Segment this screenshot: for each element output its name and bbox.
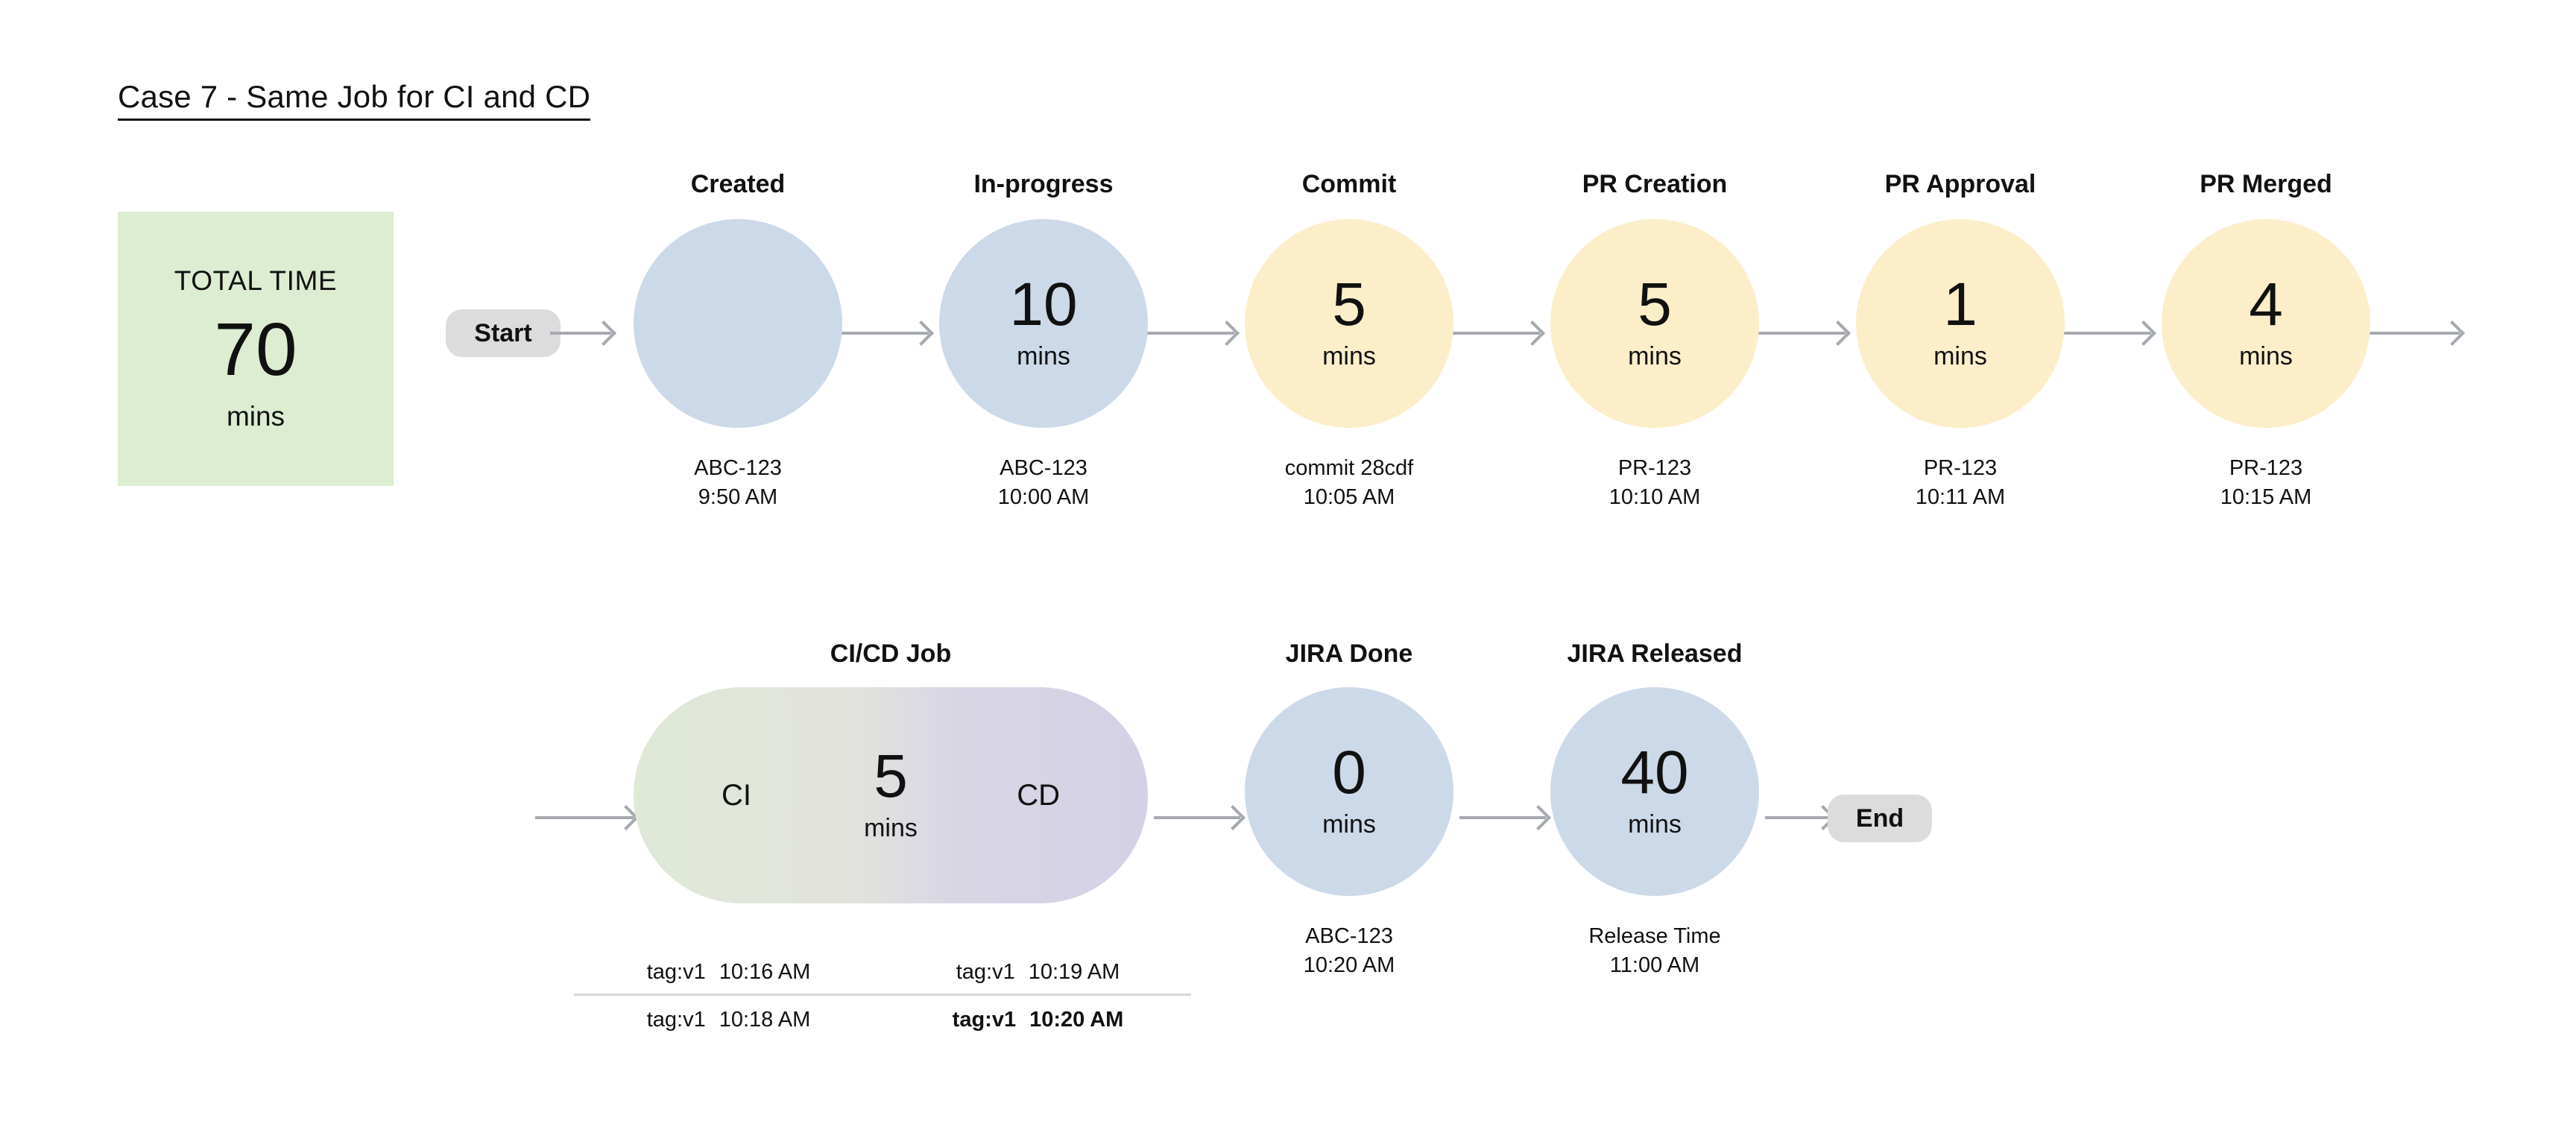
tag-cell-ci-end: tag:v1 10:18 AM bbox=[574, 1008, 883, 1032]
node-cicd-job-label: CI/CD Job bbox=[830, 641, 951, 666]
node-in-progress-caption: ABC-123 10:00 AM bbox=[998, 453, 1090, 511]
connector-created-to-inprogress bbox=[841, 332, 929, 335]
connector-jira-done-to-jira-released bbox=[1459, 816, 1546, 819]
node-jira-released-caption-id: Release Time bbox=[1588, 923, 1720, 950]
tag-cell-ci-start-tag: tag:v1 bbox=[647, 960, 706, 985]
node-created-caption-time: 9:50 AM bbox=[694, 484, 782, 511]
connector-inprogress-to-commit bbox=[1146, 332, 1234, 335]
connector-start-to-created bbox=[550, 332, 611, 335]
node-in-progress[interactable]: In-progress 10 mins ABC-123 10:00 AM bbox=[939, 171, 1148, 511]
node-jira-done-value: 0 bbox=[1332, 744, 1366, 802]
node-jira-released[interactable]: JIRA Released 40 mins Release Time 11:00… bbox=[1550, 641, 1759, 979]
node-in-progress-caption-time: 10:00 AM bbox=[998, 484, 1090, 511]
node-commit-value: 5 bbox=[1332, 276, 1366, 334]
tag-cell-cd-end-tag: tag:v1 bbox=[953, 1008, 1016, 1032]
node-jira-released-caption-time: 11:00 AM bbox=[1588, 952, 1720, 979]
node-pr-creation-label: PR Creation bbox=[1582, 171, 1728, 197]
node-cicd-job-cd-label: CD bbox=[1017, 779, 1060, 812]
node-jira-released-caption: Release Time 11:00 AM bbox=[1588, 921, 1720, 979]
page-title: Case 7 - Same Job for CI and CD bbox=[118, 80, 590, 121]
node-jira-released-unit: mins bbox=[1628, 810, 1682, 839]
tag-cell-cd-start-time: 10:19 AM bbox=[1029, 960, 1120, 985]
tag-cell-ci-start-time: 10:16 AM bbox=[719, 960, 811, 985]
node-pr-merged[interactable]: PR Merged 4 mins PR-123 10:15 AM bbox=[2162, 171, 2370, 511]
node-pr-approval-caption-time: 10:11 AM bbox=[1916, 484, 2005, 511]
node-pr-merged-unit: mins bbox=[2239, 342, 2293, 371]
node-pr-approval-caption: PR-123 10:11 AM bbox=[1916, 453, 2005, 511]
node-pr-approval-unit: mins bbox=[1933, 342, 1987, 371]
node-pr-creation[interactable]: PR Creation 5 mins PR-123 10:10 AM bbox=[1550, 171, 1759, 511]
node-created-caption: ABC-123 9:50 AM bbox=[694, 453, 782, 511]
node-commit-caption: commit 28cdf 10:05 AM bbox=[1285, 453, 1413, 511]
node-pr-creation-caption: PR-123 10:10 AM bbox=[1609, 453, 1701, 511]
node-jira-done-bubble: 0 mins bbox=[1245, 687, 1453, 896]
node-created-caption-id: ABC-123 bbox=[694, 455, 782, 482]
flow-row-2: CI/CD Job CI 5 mins CD JIRA Done 0 mins … bbox=[0, 641, 2576, 1058]
node-pr-approval-bubble: 1 mins bbox=[1856, 219, 2065, 428]
node-pr-approval-value: 1 bbox=[1943, 276, 1977, 334]
node-commit-caption-id: commit 28cdf bbox=[1285, 455, 1413, 482]
node-pr-merged-bubble: 4 mins bbox=[2162, 219, 2370, 428]
node-in-progress-label: In-progress bbox=[973, 171, 1113, 197]
node-commit-label: Commit bbox=[1302, 171, 1397, 197]
end-badge[interactable]: End bbox=[1828, 795, 1932, 842]
node-in-progress-bubble: 10 mins bbox=[939, 219, 1148, 428]
node-cicd-job-ci-label: CI bbox=[722, 779, 751, 812]
node-cicd-job-center: 5 mins bbox=[864, 748, 918, 844]
node-commit-bubble: 5 mins bbox=[1245, 219, 1453, 428]
node-commit[interactable]: Commit 5 mins commit 28cdf 10:05 AM bbox=[1245, 171, 1453, 511]
node-jira-done-label: JIRA Done bbox=[1286, 641, 1413, 666]
node-jira-done-caption-time: 10:20 AM bbox=[1304, 952, 1395, 979]
node-cicd-job[interactable]: CI/CD Job CI 5 mins CD bbox=[634, 641, 1148, 903]
node-pr-approval-caption-id: PR-123 bbox=[1916, 455, 2005, 482]
node-pr-merged-caption-id: PR-123 bbox=[2220, 455, 2312, 482]
node-pr-creation-caption-time: 10:10 AM bbox=[1609, 484, 1701, 511]
node-pr-merged-caption-time: 10:15 AM bbox=[2220, 484, 2312, 511]
node-jira-released-bubble: 40 mins bbox=[1550, 687, 1759, 896]
tag-cell-cd-start-tag: tag:v1 bbox=[956, 960, 1015, 985]
node-in-progress-caption-id: ABC-123 bbox=[998, 455, 1090, 482]
tag-grid: tag:v1 10:16 AM tag:v1 10:19 AM tag:v1 1… bbox=[574, 948, 1193, 1044]
node-in-progress-value: 10 bbox=[1009, 276, 1077, 334]
node-pr-merged-value: 4 bbox=[2249, 276, 2283, 334]
node-cicd-job-pill: CI 5 mins CD bbox=[634, 687, 1148, 903]
node-pr-merged-caption: PR-123 10:15 AM bbox=[2220, 453, 2312, 511]
connector-prcreation-to-prapproval bbox=[1758, 332, 1846, 335]
diagram-canvas: Case 7 - Same Job for CI and CD TOTAL TI… bbox=[0, 0, 2576, 1127]
node-cicd-job-value: 5 bbox=[874, 748, 908, 806]
node-jira-released-value: 40 bbox=[1620, 744, 1688, 802]
node-pr-approval-label: PR Approval bbox=[1885, 171, 2036, 197]
node-jira-done-caption-id: ABC-123 bbox=[1304, 923, 1395, 950]
flow-row-1: Start Created ABC-123 9:50 AM In-progres… bbox=[0, 171, 2576, 559]
tag-cell-cd-end: tag:v1 10:20 AM bbox=[883, 1008, 1193, 1032]
tag-cell-cd-start: tag:v1 10:19 AM bbox=[883, 960, 1193, 985]
node-commit-unit: mins bbox=[1322, 342, 1376, 371]
node-pr-creation-value: 5 bbox=[1638, 276, 1672, 334]
node-jira-done-caption: ABC-123 10:20 AM bbox=[1304, 921, 1395, 979]
connector-inbound-to-cicd-job bbox=[535, 816, 634, 819]
node-created-bubble bbox=[634, 219, 842, 428]
connector-cicd-to-jira-done bbox=[1154, 816, 1240, 819]
node-pr-creation-unit: mins bbox=[1628, 342, 1682, 371]
node-jira-done-unit: mins bbox=[1322, 810, 1376, 839]
node-created-label: Created bbox=[691, 171, 786, 197]
tag-cell-cd-end-time: 10:20 AM bbox=[1029, 1008, 1123, 1032]
start-badge[interactable]: Start bbox=[446, 309, 561, 357]
node-jira-done[interactable]: JIRA Done 0 mins ABC-123 10:20 AM bbox=[1245, 641, 1453, 979]
node-jira-released-label: JIRA Released bbox=[1568, 641, 1743, 666]
tag-cell-ci-end-tag: tag:v1 bbox=[647, 1008, 706, 1032]
node-cicd-job-unit: mins bbox=[864, 814, 918, 843]
tag-grid-row-bottom: tag:v1 10:18 AM tag:v1 10:20 AM bbox=[574, 996, 1193, 1044]
connector-prapproval-to-prmerged bbox=[2063, 332, 2151, 335]
node-pr-approval[interactable]: PR Approval 1 mins PR-123 10:11 AM bbox=[1856, 171, 2065, 511]
node-in-progress-unit: mins bbox=[1017, 342, 1070, 371]
node-pr-creation-bubble: 5 mins bbox=[1550, 219, 1759, 428]
connector-jira-released-to-end bbox=[1765, 816, 1831, 819]
node-pr-merged-label: PR Merged bbox=[2200, 171, 2332, 197]
node-created[interactable]: Created ABC-123 9:50 AM bbox=[634, 171, 842, 511]
tag-grid-row-top: tag:v1 10:16 AM tag:v1 10:19 AM bbox=[574, 948, 1193, 996]
connector-commit-to-prcreation bbox=[1452, 332, 1540, 335]
tag-cell-ci-start: tag:v1 10:16 AM bbox=[574, 960, 883, 985]
connector-prmerged-to-next-row bbox=[2369, 332, 2460, 335]
node-commit-caption-time: 10:05 AM bbox=[1285, 484, 1413, 511]
node-pr-creation-caption-id: PR-123 bbox=[1609, 455, 1701, 482]
tag-cell-ci-end-time: 10:18 AM bbox=[719, 1008, 811, 1032]
